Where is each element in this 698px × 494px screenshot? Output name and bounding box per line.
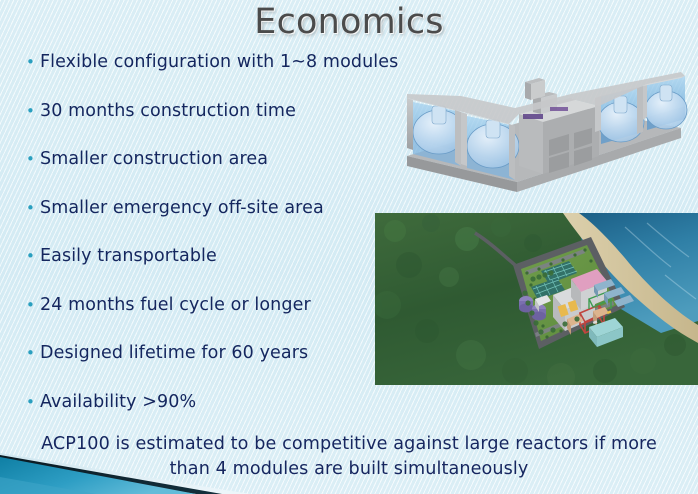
page-title: Economics [0,1,698,43]
bullet-text: Designed lifetime for 60 years [40,343,308,363]
list-item: • 24 months fuel cycle or longer [26,295,378,344]
coastal-plant-aerial-rendering [375,213,698,385]
bullet-marker-icon: • [26,102,40,119]
list-item: • Smaller construction area [26,149,378,198]
bullet-text: 30 months construction time [40,101,296,121]
caption-line-1: ACP100 is estimated to be competitive ag… [0,432,698,457]
list-item: • Smaller emergency off-site area [26,198,378,247]
bullet-text: Smaller construction area [40,149,268,169]
bullet-text: 24 months fuel cycle or longer [40,295,311,315]
list-item: • Designed lifetime for 60 years [26,343,378,392]
bullet-marker-icon: • [26,247,40,264]
list-item: • 30 months construction time [26,101,378,150]
bullet-text: Flexible configuration with 1~8 modules [40,52,398,72]
bullet-text: Availability >90% [40,392,196,412]
list-item: • Flexible configuration with 1~8 module… [26,52,378,101]
list-item: • Easily transportable [26,246,378,295]
bullet-marker-icon: • [26,53,40,70]
slide-canvas: Economics • Flexible configuration with … [0,0,698,494]
bullet-text: Smaller emergency off-site area [40,198,324,218]
slide-footer-caption: ACP100 is estimated to be competitive ag… [0,432,698,482]
bullet-marker-icon: • [26,296,40,313]
bullet-marker-icon: • [26,199,40,216]
bullet-marker-icon: • [26,344,40,361]
bullet-text: Easily transportable [40,246,217,266]
bullet-marker-icon: • [26,393,40,410]
bullet-list: • Flexible configuration with 1~8 module… [26,52,378,440]
bullet-marker-icon: • [26,150,40,167]
caption-line-2: than 4 modules are built simultaneously [0,457,698,482]
reactor-modules-3d-rendering [399,70,689,192]
